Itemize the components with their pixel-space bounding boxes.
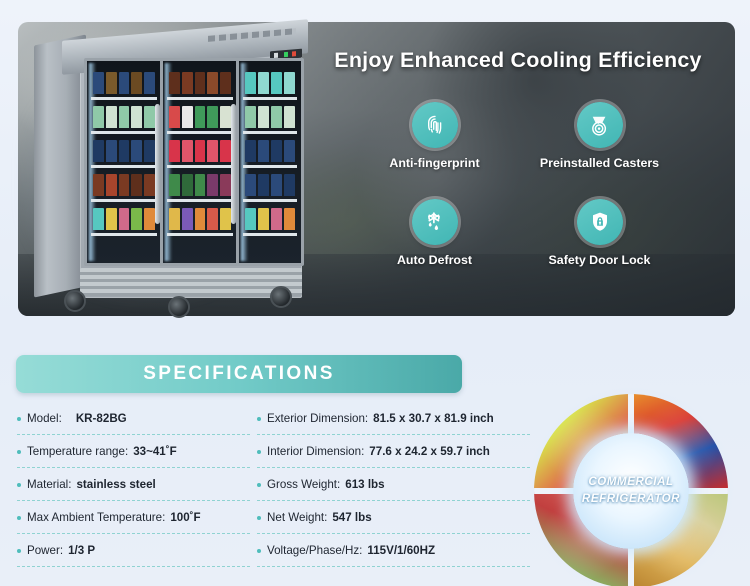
spec-label: Exterior Dimension:	[267, 412, 368, 425]
spec-row-gross-weight: Gross Weight: 613 lbs	[256, 468, 536, 501]
specifications-heading: SPECIFICATIONS	[143, 363, 335, 385]
spec-value: 1/3 P	[68, 544, 95, 557]
spec-label: Net Weight:	[267, 511, 327, 524]
feature-label: Auto Defrost	[352, 253, 517, 267]
spec-row-interior-dimension: Interior Dimension: 77.6 x 24.2 x 59.7 i…	[256, 435, 536, 468]
feature-auto-defrost: Auto Defrost	[352, 199, 517, 267]
spec-value: 613 lbs	[345, 478, 384, 491]
spec-value: 115V/1/60HZ	[367, 544, 435, 557]
caster-front-mid	[168, 296, 190, 318]
glass-door-right	[236, 58, 304, 266]
collage-center-line-2: REFRIGERATOR	[582, 491, 680, 508]
feature-anti-fingerprint: Anti-fingerprint	[352, 102, 517, 170]
shelves	[167, 65, 233, 259]
collage-center-label: COMMERCIAL REFRIGERATOR	[573, 433, 689, 549]
spec-label: Gross Weight:	[267, 478, 340, 491]
feature-label: Safety Door Lock	[517, 253, 682, 267]
caster-front-left	[64, 290, 86, 312]
spec-row-power: Power: 1/3 P	[16, 534, 256, 567]
spec-value: 81.5 x 30.7 x 81.9 inch	[373, 412, 494, 425]
spec-row-net-weight: Net Weight: 547 lbs	[256, 501, 536, 534]
caster-wheel-icon	[577, 102, 623, 148]
spec-value: 100˚F	[170, 511, 200, 524]
collage-center-line-1: COMMERCIAL	[588, 474, 673, 491]
feature-grid: Anti-fingerprint Preinstalled Casters	[352, 102, 682, 267]
feature-row-top: Anti-fingerprint Preinstalled Casters	[352, 102, 682, 170]
shield-lock-icon	[577, 199, 623, 245]
food-collage: COMMERCIAL REFRIGERATOR	[534, 394, 728, 586]
specifications-banner: SPECIFICATIONS	[16, 355, 462, 393]
spec-row-max-ambient-temperature: Max Ambient Temperature: 100˚F	[16, 501, 256, 534]
hero-title: Enjoy Enhanced Cooling Efficiency	[318, 48, 718, 73]
feature-label: Preinstalled Casters	[517, 156, 682, 170]
hero-section: Enjoy Enhanced Cooling Efficiency	[0, 0, 750, 340]
shelves	[243, 65, 297, 259]
caster-front-right	[270, 286, 292, 308]
spec-row-model: Model: KR-82BG	[16, 402, 256, 435]
spec-row-voltage-phase-hz: Voltage/Phase/Hz: 115V/1/60HZ	[256, 534, 536, 567]
feature-row-bottom: Auto Defrost Safety Door Lock	[352, 199, 682, 267]
spec-label: Material:	[27, 478, 71, 491]
spec-value: 547 lbs	[332, 511, 371, 524]
fingerprint-icon	[412, 102, 458, 148]
spec-value: 33~41˚F	[133, 445, 177, 458]
spec-value: 77.6 x 24.2 x 59.7 inch	[369, 445, 490, 458]
spec-row-temperature-range: Temperature range: 33~41˚F	[16, 435, 256, 468]
glass-door-center	[160, 58, 240, 266]
snowflake-drip-icon	[412, 199, 458, 245]
glass-doors	[84, 58, 298, 266]
base-louver-panel	[80, 268, 302, 296]
spec-label: Max Ambient Temperature:	[27, 511, 165, 524]
spec-label: Interior Dimension:	[267, 445, 364, 458]
door-handle-right	[231, 104, 236, 224]
spec-row-exterior-dimension: Exterior Dimension: 81.5 x 30.7 x 81.9 i…	[256, 402, 536, 435]
specifications-right-column: Exterior Dimension: 81.5 x 30.7 x 81.9 i…	[256, 402, 536, 567]
feature-safety-door-lock: Safety Door Lock	[517, 199, 682, 267]
shelves	[91, 65, 157, 259]
specifications-list: Model: KR-82BG Temperature range: 33~41˚…	[16, 402, 536, 567]
cabinet-side-panel	[34, 34, 86, 297]
spec-label: Voltage/Phase/Hz:	[267, 544, 362, 557]
refrigerator-product-photo	[18, 18, 328, 330]
spec-label: Temperature range:	[27, 445, 128, 458]
glass-door-left	[84, 58, 164, 266]
door-handle-left	[155, 104, 160, 224]
spec-value: KR-82BG	[76, 412, 127, 425]
specifications-left-column: Model: KR-82BG Temperature range: 33~41˚…	[16, 402, 256, 567]
spec-row-material: Material: stainless steel	[16, 468, 256, 501]
spec-label: Power:	[27, 544, 63, 557]
spec-value: stainless steel	[76, 478, 155, 491]
feature-preinstalled-casters: Preinstalled Casters	[517, 102, 682, 170]
spec-label: Model:	[27, 412, 62, 425]
feature-label: Anti-fingerprint	[352, 156, 517, 170]
